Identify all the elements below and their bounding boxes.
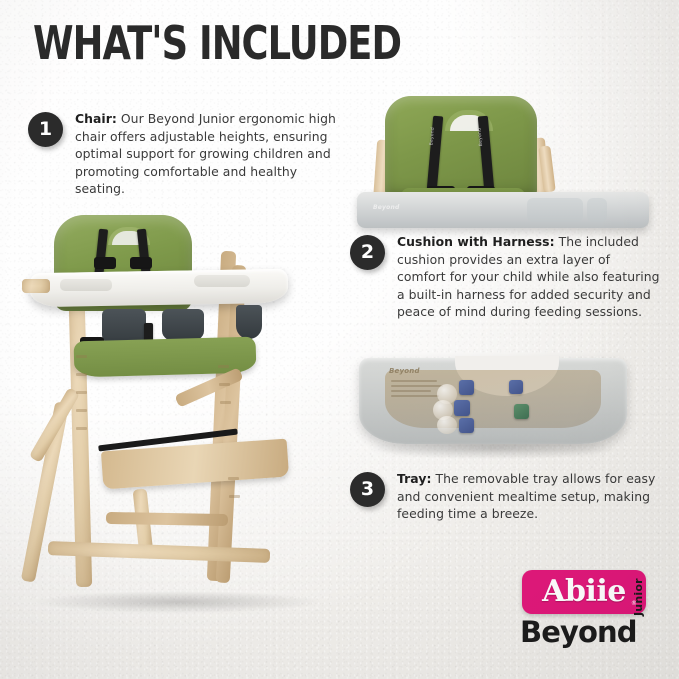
height-notch xyxy=(76,391,87,394)
infographic-page: WHAT'S INCLUDED Beyond Beyond Beyond xyxy=(0,0,679,679)
height-notch xyxy=(218,365,229,368)
chair-shadow xyxy=(36,591,320,613)
height-notch xyxy=(76,355,87,358)
list-item-description: The removable tray allows for easy and c… xyxy=(397,471,655,521)
tray-inner-panel xyxy=(527,198,583,222)
page-title: WHAT'S INCLUDED xyxy=(33,20,401,66)
chair-tray-side-guard xyxy=(236,305,262,339)
tray-icon-sticker xyxy=(459,418,474,433)
tray-text-line xyxy=(391,390,431,392)
tray-icon-sticker xyxy=(454,400,470,416)
list-item-chair: 1 Chair: Our Beyond Junior ergonomic hig… xyxy=(28,110,338,198)
list-item-cushion: 2 Cushion with Harness: The included cus… xyxy=(350,233,662,321)
tray-icon-sticker xyxy=(514,404,529,419)
abiie-logo-badge: Abiie ® xyxy=(522,570,646,614)
list-item-label: Cushion with Harness: xyxy=(397,234,555,249)
height-notch xyxy=(76,427,87,430)
chair-tray-recess xyxy=(60,279,112,291)
height-notch xyxy=(229,495,240,498)
tray-body: Beyond xyxy=(359,358,627,444)
tray-icon-sticker xyxy=(459,380,474,395)
list-item-label: Tray: xyxy=(397,471,431,486)
step-badge-2: 2 xyxy=(350,235,385,270)
strap-brand-right: Beyond xyxy=(477,128,484,147)
height-notch xyxy=(228,477,239,480)
chair-buckle-left xyxy=(94,257,116,269)
list-item-tray: 3 Tray: The removable tray allows for ea… xyxy=(350,470,662,523)
tray-inner-surface xyxy=(385,370,601,428)
tray-brand-label: Beyond xyxy=(373,204,399,211)
cushion-with-harness-photo: Beyond Beyond Beyond xyxy=(345,88,675,228)
tray-inner-panel-2 xyxy=(587,198,607,222)
chair-tray-recess-2 xyxy=(194,275,250,287)
tray-icon-sticker xyxy=(509,380,523,394)
brand-logo: Abiie ® Beyond Junior xyxy=(500,566,660,666)
tray-text-line xyxy=(391,385,443,387)
chair-buckle-right xyxy=(130,257,152,269)
beyond-wordmark: Beyond xyxy=(520,616,637,648)
tray-brand-label: Beyond xyxy=(389,367,420,375)
height-notch xyxy=(220,401,231,404)
high-chair-photo xyxy=(18,205,338,615)
junior-wordmark: Junior xyxy=(632,578,645,616)
step-badge-1: 1 xyxy=(28,112,63,147)
list-item-text: Cushion with Harness: The included cushi… xyxy=(397,233,662,321)
list-item-text: Tray: The removable tray allows for easy… xyxy=(397,470,662,523)
list-item-text: Chair: Our Beyond Junior ergonomic high … xyxy=(75,110,338,198)
height-notch xyxy=(219,383,230,386)
tray-text-line xyxy=(391,395,439,397)
step-badge-3: 3 xyxy=(350,472,385,507)
list-item-label: Chair: xyxy=(75,111,117,126)
abiie-wordmark: Abiie xyxy=(542,577,626,607)
chair-mid-rail xyxy=(106,512,228,526)
height-notch xyxy=(76,409,87,412)
tray-graphic-bubble xyxy=(437,416,457,434)
chair-tray-latch-left xyxy=(22,279,50,293)
height-notch xyxy=(76,373,87,376)
strap-brand-left: Beyond xyxy=(429,127,436,146)
tray-text-line xyxy=(391,380,437,382)
removable-tray-photo: Beyond xyxy=(345,352,675,464)
